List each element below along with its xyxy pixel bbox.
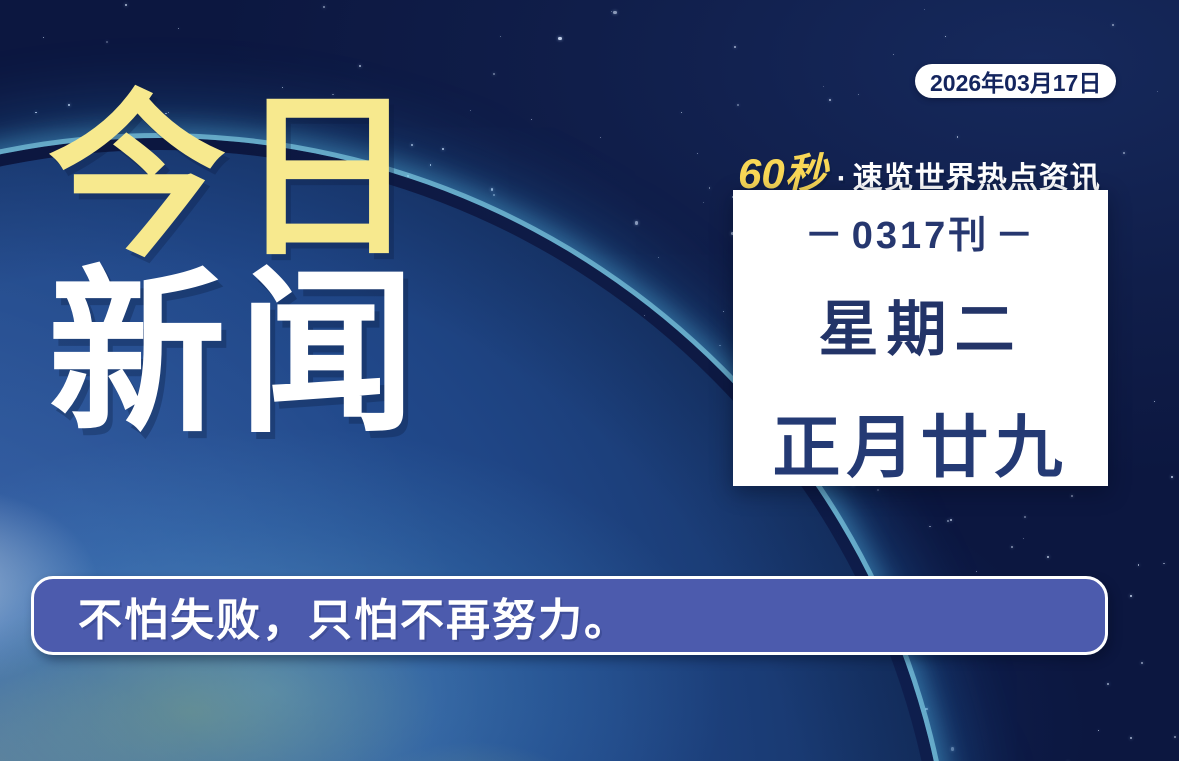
news-poster: 今日 新闻 2026年03月17日 60秒 · 速览世界热点资讯 －0317刊－… bbox=[0, 0, 1179, 761]
weekday-label: 星期二 bbox=[819, 281, 1023, 368]
issue-dash-left: － bbox=[799, 215, 852, 257]
quote-text: 不怕失败，只怕不再努力。 bbox=[78, 584, 630, 648]
lunar-date-label: 正月廿九 bbox=[772, 392, 1068, 491]
date-badge: 2026年03月17日 bbox=[915, 64, 1116, 98]
quote-banner: 不怕失败，只怕不再努力。 bbox=[31, 576, 1108, 655]
issue-number: 0317刊 bbox=[852, 215, 990, 257]
title-line-news: 新闻 bbox=[48, 272, 428, 436]
info-card: －0317刊－ 星期二 正月廿九 bbox=[733, 190, 1108, 486]
page-title: 今日 新闻 bbox=[48, 96, 428, 436]
title-line-today: 今日 bbox=[48, 96, 428, 260]
issue-dash-right: － bbox=[989, 215, 1042, 257]
issue-row: －0317刊－ bbox=[799, 204, 1043, 259]
